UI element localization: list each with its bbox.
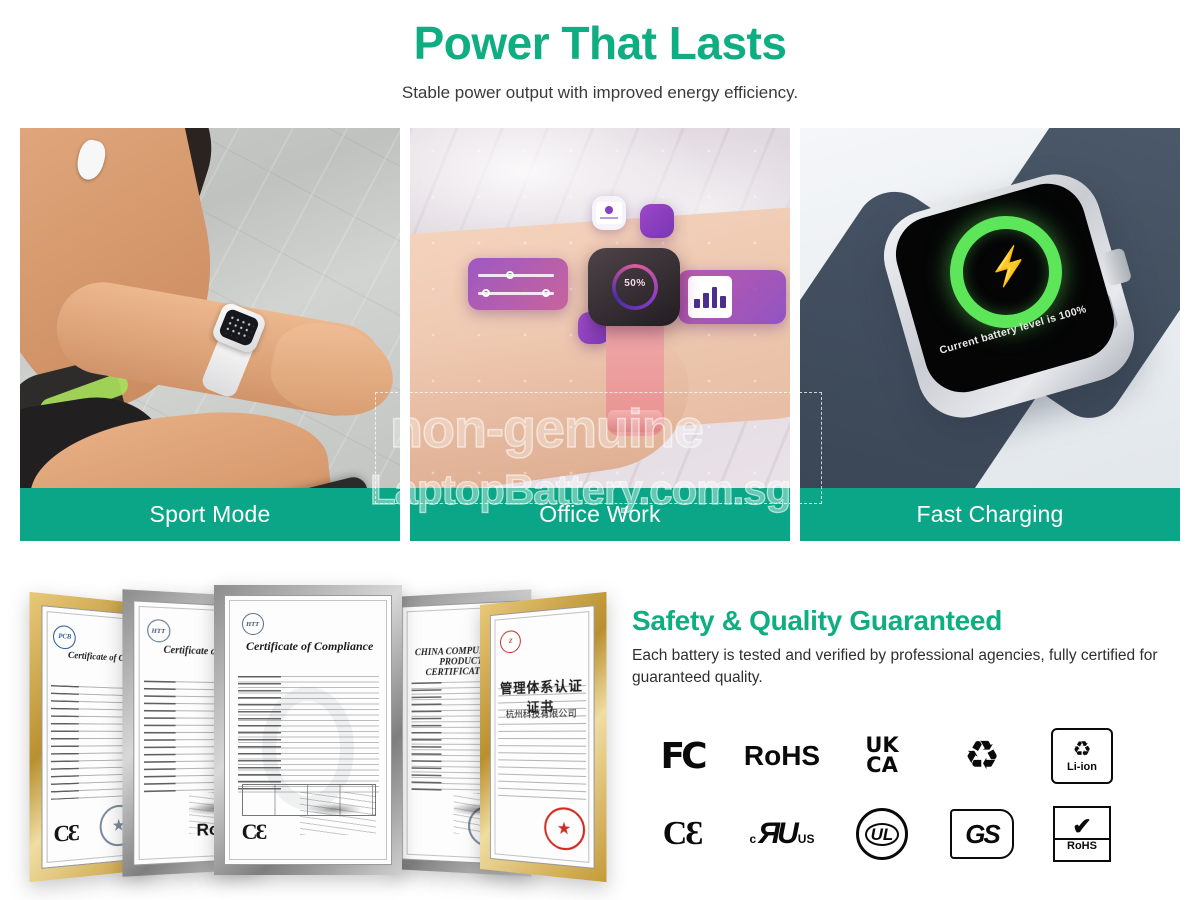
ukca-bottom: CA: [866, 753, 898, 777]
recycle-badge: ♻: [932, 725, 1032, 787]
card-caption-fast-charging: Fast Charging: [800, 488, 1180, 541]
rohs-check-badge: ✔ RoHS: [1032, 803, 1132, 865]
certificate-title: Certificate of Compliance: [238, 639, 381, 654]
rohs-badge: RoHS: [732, 725, 832, 787]
contact-line: [600, 217, 618, 219]
certificate-htt-compliance[interactable]: HTT Certificate of Compliance CƐ: [214, 585, 402, 875]
htt-logo: HTT: [147, 619, 170, 643]
card-caption-office-work: Office Work: [410, 488, 790, 541]
ukca-badge: UK CA: [832, 725, 932, 787]
certification-badge-grid: FC RoHS UK CA ♻ ♻ Li-ion: [632, 725, 1132, 865]
certificate-china-system[interactable]: Z 管理体系认证证书 杭州科技有限公司: [480, 592, 606, 882]
ul-label: UL: [865, 823, 900, 846]
slider-knob-2: [482, 289, 490, 297]
rohs-label: RoHS: [1055, 838, 1109, 852]
htt-logo: HTT: [242, 613, 264, 635]
product-feature-page: Power That Lasts Stable power output wit…: [0, 0, 1200, 900]
culus-prefix: c: [750, 832, 757, 846]
feature-card-fast-charging[interactable]: ⚡ Current battery level is 100% Fast Cha…: [800, 128, 1180, 541]
office-work-photo: 50%: [410, 128, 790, 488]
bar-chart-icon: [694, 286, 726, 308]
badge-row-2: CƐ c ЯU US UL GS ✔: [632, 803, 1132, 865]
safety-block: Safety & Quality Guaranteed Each battery…: [632, 605, 1177, 690]
gs-label: GS: [950, 809, 1014, 859]
ce-mark: CƐ: [242, 819, 266, 845]
field-values: [238, 676, 379, 794]
badge-row-1: FC RoHS UK CA ♻ ♻ Li-ion: [632, 725, 1132, 787]
battery-percent-label: 50%: [612, 278, 658, 289]
slider-knob-1: [506, 271, 514, 279]
red-official-seal: [544, 806, 585, 851]
field-values: [499, 685, 586, 799]
li-ion-recycle-badge: ♻ Li-ion: [1032, 725, 1132, 787]
ce-badge: CƐ: [632, 803, 732, 865]
checkbox-tile: [640, 204, 674, 238]
fcc-badge: FC: [632, 725, 732, 787]
slider-track-1: [478, 274, 554, 277]
recycle-icon: ♻: [1073, 739, 1092, 760]
page-title: Power That Lasts: [0, 18, 1200, 69]
page-header: Power That Lasts Stable power output wit…: [0, 0, 1200, 103]
culus-badge: c ЯU US: [732, 803, 832, 865]
settings-tile: [468, 258, 568, 310]
check-icon: ✔: [1072, 816, 1091, 837]
card-caption-sport-mode: Sport Mode: [20, 488, 400, 541]
feature-card-row: Sport Mode: [20, 128, 1180, 541]
feature-card-sport-mode[interactable]: Sport Mode: [20, 128, 400, 541]
ul-mark-icon: ЯU: [758, 817, 796, 851]
page-subtitle: Stable power output with improved energy…: [0, 83, 1200, 103]
certificate-gallery: PCB Certificate of C CƐ HTT Certificate …: [18, 579, 608, 889]
slider-knob-3: [542, 289, 550, 297]
safety-description: Each battery is tested and verified by p…: [632, 645, 1177, 690]
pcb-logo: PCB: [53, 624, 76, 649]
sport-mode-photo: [20, 128, 400, 488]
z-logo: Z: [500, 629, 521, 653]
ul-badge: UL: [832, 803, 932, 865]
li-ion-label: Li-ion: [1067, 761, 1097, 773]
feature-card-office-work[interactable]: 50% Office Work: [410, 128, 790, 541]
authorized-signature: [300, 792, 376, 835]
ce-mark: CƐ: [53, 819, 77, 849]
pink-watch-buckle: [608, 410, 662, 432]
bottom-section: PCB Certificate of C CƐ HTT Certificate …: [0, 565, 1200, 900]
contact-avatar-icon: [605, 206, 613, 214]
fast-charging-photo: ⚡ Current battery level is 100%: [800, 128, 1180, 488]
gs-badge: GS: [932, 803, 1032, 865]
safety-title: Safety & Quality Guaranteed: [632, 605, 1177, 637]
culus-suffix: US: [798, 832, 815, 846]
recycle-icon: ♻: [964, 736, 1000, 776]
